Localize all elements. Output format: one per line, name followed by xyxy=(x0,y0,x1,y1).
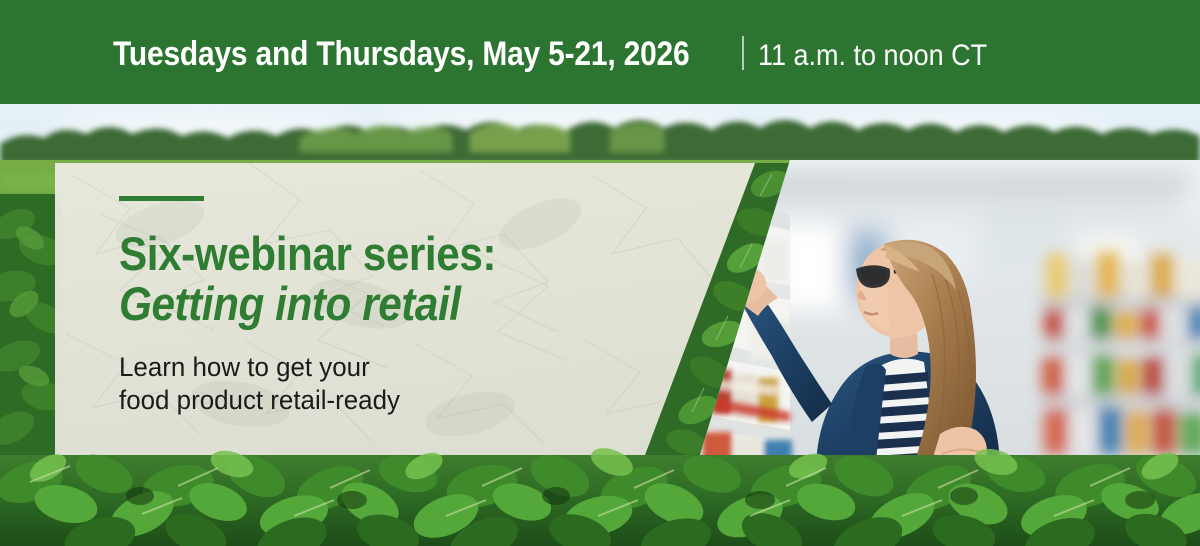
subtitle-line-2: food product retail-ready xyxy=(119,384,570,417)
banner-artwork: Six-webinar series: Getting into retail … xyxy=(0,104,1200,546)
headline-line-2: Getting into retail xyxy=(119,279,542,329)
promo-subtitle: Learn how to get your food product retai… xyxy=(119,351,570,417)
accent-rule xyxy=(119,196,204,201)
headline-line-1: Six-webinar series: xyxy=(119,229,542,279)
header-bar-content: Tuesdays and Thursdays, May 5-21, 2026 1… xyxy=(113,31,1013,74)
webinar-time-text: 11 a.m. to noon CT xyxy=(758,39,987,73)
webinar-promo-banner: Tuesdays and Thursdays, May 5-21, 2026 1… xyxy=(0,0,1200,546)
foreground-leaf-canopy xyxy=(0,443,1200,546)
webinar-date-text: Tuesdays and Thursdays, May 5-21, 2026 xyxy=(113,35,689,74)
subtitle-line-1: Learn how to get your xyxy=(119,351,570,384)
header-bar: Tuesdays and Thursdays, May 5-21, 2026 1… xyxy=(0,0,1200,104)
promo-copy-block: Six-webinar series: Getting into retail … xyxy=(119,196,589,417)
header-divider xyxy=(742,36,744,70)
